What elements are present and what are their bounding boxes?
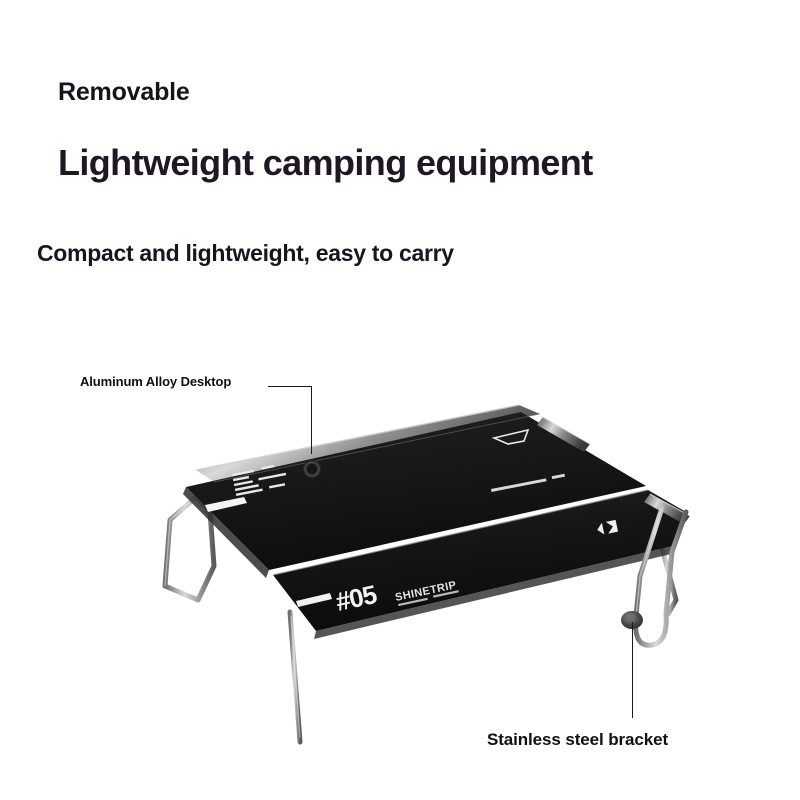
callout-label-aluminum-alloy-desktop: Aluminum Alloy Desktop	[80, 374, 231, 389]
product-illustration: #05 SHINETRIP	[0, 0, 800, 800]
logo-dot-center	[308, 465, 317, 474]
panel-slot-cutout-left	[205, 497, 247, 512]
spec-text-right	[491, 474, 565, 492]
brand-wordmark: SHINETRIP	[394, 579, 457, 604]
kicker-text: Removable	[58, 78, 190, 107]
leg-right-hairpin	[636, 508, 686, 645]
leader-line-bracket-vertical	[632, 622, 633, 718]
rear-panel-side-rail	[537, 417, 590, 452]
subheading-text: Compact and lightweight, easy to carry	[37, 240, 454, 267]
tabletop-front-panel	[273, 490, 686, 639]
product-marketing-poster: Removable Lightweight camping equipment …	[0, 0, 800, 800]
leader-line-desktop-vertical	[311, 386, 312, 454]
leg-front-left	[290, 612, 300, 742]
brand-corner-glyph	[596, 520, 618, 536]
panel-notch-marking	[494, 430, 528, 444]
model-number-marking: #05	[333, 579, 379, 617]
page-title: Lightweight camping equipment	[58, 142, 593, 184]
spec-text-left	[232, 463, 288, 496]
leg-left-bracket	[165, 497, 214, 600]
tabletop-rear-panel	[183, 405, 646, 578]
front-panel-side-rail	[644, 494, 690, 524]
callout-label-stainless-steel-bracket: Stainless steel bracket	[487, 730, 668, 750]
logo-dot-marking	[303, 460, 321, 478]
leader-line-desktop-horizontal	[268, 386, 312, 387]
panel-slot-cutout-front	[296, 593, 332, 607]
brand-tagline-marking	[398, 590, 459, 606]
bracket-pivot-knob-highlight	[626, 615, 634, 621]
leg-rear-right	[660, 540, 676, 614]
